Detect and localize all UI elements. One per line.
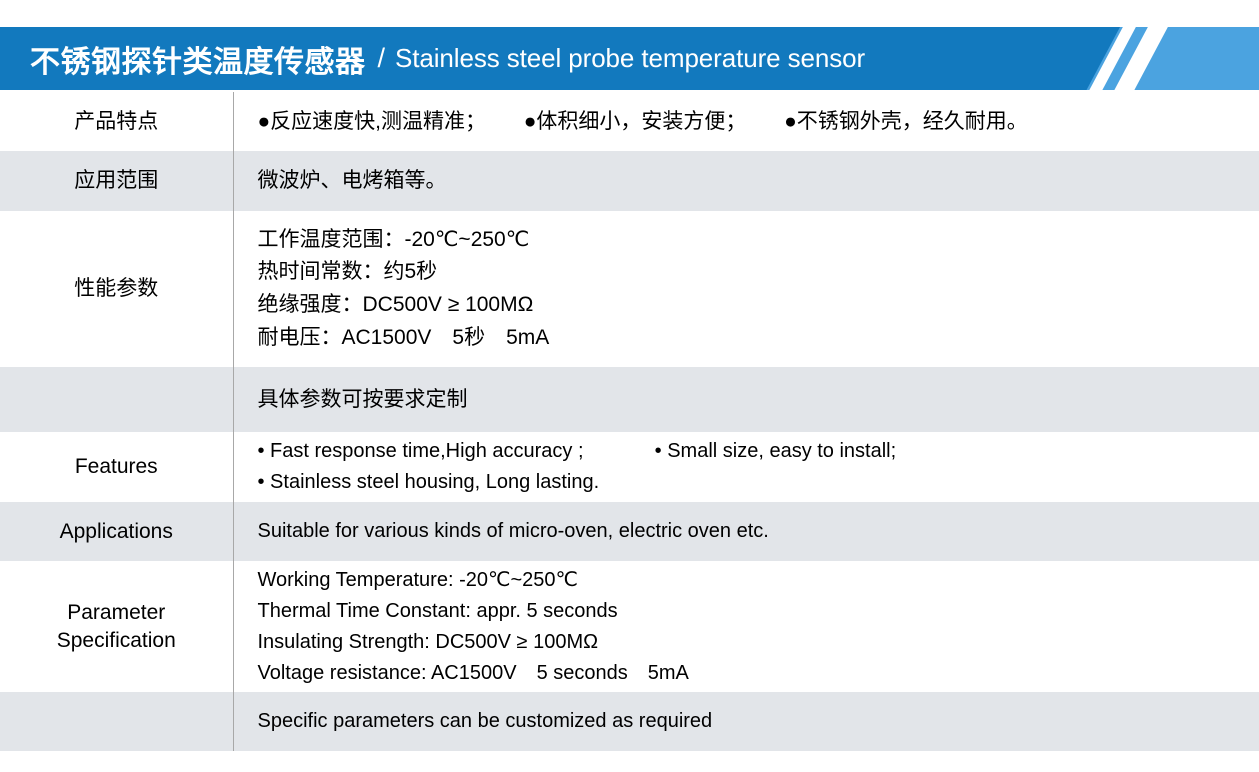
- row-label-applications: Applications: [0, 502, 233, 561]
- row-label-parameter-line2: Specification: [6, 627, 227, 655]
- row-label-parameter-line1: Parameter: [6, 599, 227, 627]
- row-value-features: • Fast response time,High accuracy ; • S…: [233, 432, 1259, 502]
- performance-line-4: 耐电压：AC1500V 5秒 5mA: [258, 322, 1248, 355]
- specification-table: 产品特点 ●反应速度快,测温精准； ●体积细小，安装方便； ●不锈钢外壳，经久耐…: [0, 92, 1259, 751]
- performance-line-3: 绝缘强度：DC500V ≥ 100MΩ: [258, 289, 1248, 322]
- page-title: 不锈钢探针类温度传感器 / Stainless steel probe temp…: [30, 27, 865, 90]
- row-label-features: Features: [0, 432, 233, 502]
- feature-item-cn-1: ●反应速度快,测温精准；: [258, 110, 487, 133]
- row-label-application-scope: 应用范围: [0, 151, 233, 211]
- feature-item-en-2: • Small size, easy to install;: [655, 440, 897, 462]
- table-row: 具体参数可按要求定制: [0, 367, 1259, 432]
- row-value-application-scope: 微波炉、电烤箱等。: [233, 151, 1259, 211]
- table-row: Features • Fast response time,High accur…: [0, 432, 1259, 502]
- parameter-line-4: Voltage resistance: AC1500V 5 seconds 5m…: [258, 658, 1248, 689]
- feature-item-en-1: • Fast response time,High accuracy ;: [258, 440, 584, 462]
- parameter-line-2: Thermal Time Constant: appr. 5 seconds: [258, 596, 1248, 627]
- parameter-line-3: Insulating Strength: DC500V ≥ 100MΩ: [258, 627, 1248, 658]
- page-header-banner: 不锈钢探针类温度传感器 / Stainless steel probe temp…: [0, 27, 1259, 90]
- table-row: Parameter Specification Working Temperat…: [0, 561, 1259, 692]
- row-value-applications: Suitable for various kinds of micro-oven…: [233, 502, 1259, 561]
- row-label-parameter-specification: Parameter Specification: [0, 561, 233, 692]
- page-title-chinese: 不锈钢探针类温度传感器: [30, 37, 366, 81]
- row-value-performance-parameters: 工作温度范围：-20℃~250℃ 热时间常数：约5秒 绝缘强度：DC500V ≥…: [233, 211, 1259, 367]
- row-label-performance-parameters: 性能参数: [0, 211, 233, 367]
- row-value-parameter-specification: Working Temperature: -20℃~250℃ Thermal T…: [233, 561, 1259, 692]
- table-row: 产品特点 ●反应速度快,测温精准； ●体积细小，安装方便； ●不锈钢外壳，经久耐…: [0, 92, 1259, 151]
- row-label-custom-cn: [0, 367, 233, 432]
- row-value-custom-en: Specific parameters can be customized as…: [233, 692, 1259, 751]
- page-title-english: Stainless steel probe temperature sensor: [395, 43, 865, 74]
- table-row: Specific parameters can be customized as…: [0, 692, 1259, 751]
- parameter-line-1: Working Temperature: -20℃~250℃: [258, 565, 1248, 596]
- row-label-custom-en: [0, 692, 233, 751]
- performance-line-1: 工作温度范围：-20℃~250℃: [258, 224, 1248, 257]
- row-label-product-features: 产品特点: [0, 92, 233, 151]
- table-row: Applications Suitable for various kinds …: [0, 502, 1259, 561]
- performance-line-2: 热时间常数：约5秒: [258, 256, 1248, 289]
- product-spec-page: 不锈钢探针类温度传感器 / Stainless steel probe temp…: [0, 0, 1259, 772]
- row-value-custom-cn: 具体参数可按要求定制: [233, 367, 1259, 432]
- table-row: 性能参数 工作温度范围：-20℃~250℃ 热时间常数：约5秒 绝缘强度：DC5…: [0, 211, 1259, 367]
- feature-item-cn-2: ●体积细小，安装方便；: [524, 110, 747, 133]
- row-value-product-features: ●反应速度快,测温精准； ●体积细小，安装方便； ●不锈钢外壳，经久耐用。: [233, 92, 1259, 151]
- feature-item-en-3: • Stainless steel housing, Long lasting.: [258, 467, 1248, 498]
- page-title-separator: /: [378, 43, 386, 74]
- table-row: 应用范围 微波炉、电烤箱等。: [0, 151, 1259, 211]
- feature-item-cn-3: ●不锈钢外壳，经久耐用。: [784, 110, 1028, 133]
